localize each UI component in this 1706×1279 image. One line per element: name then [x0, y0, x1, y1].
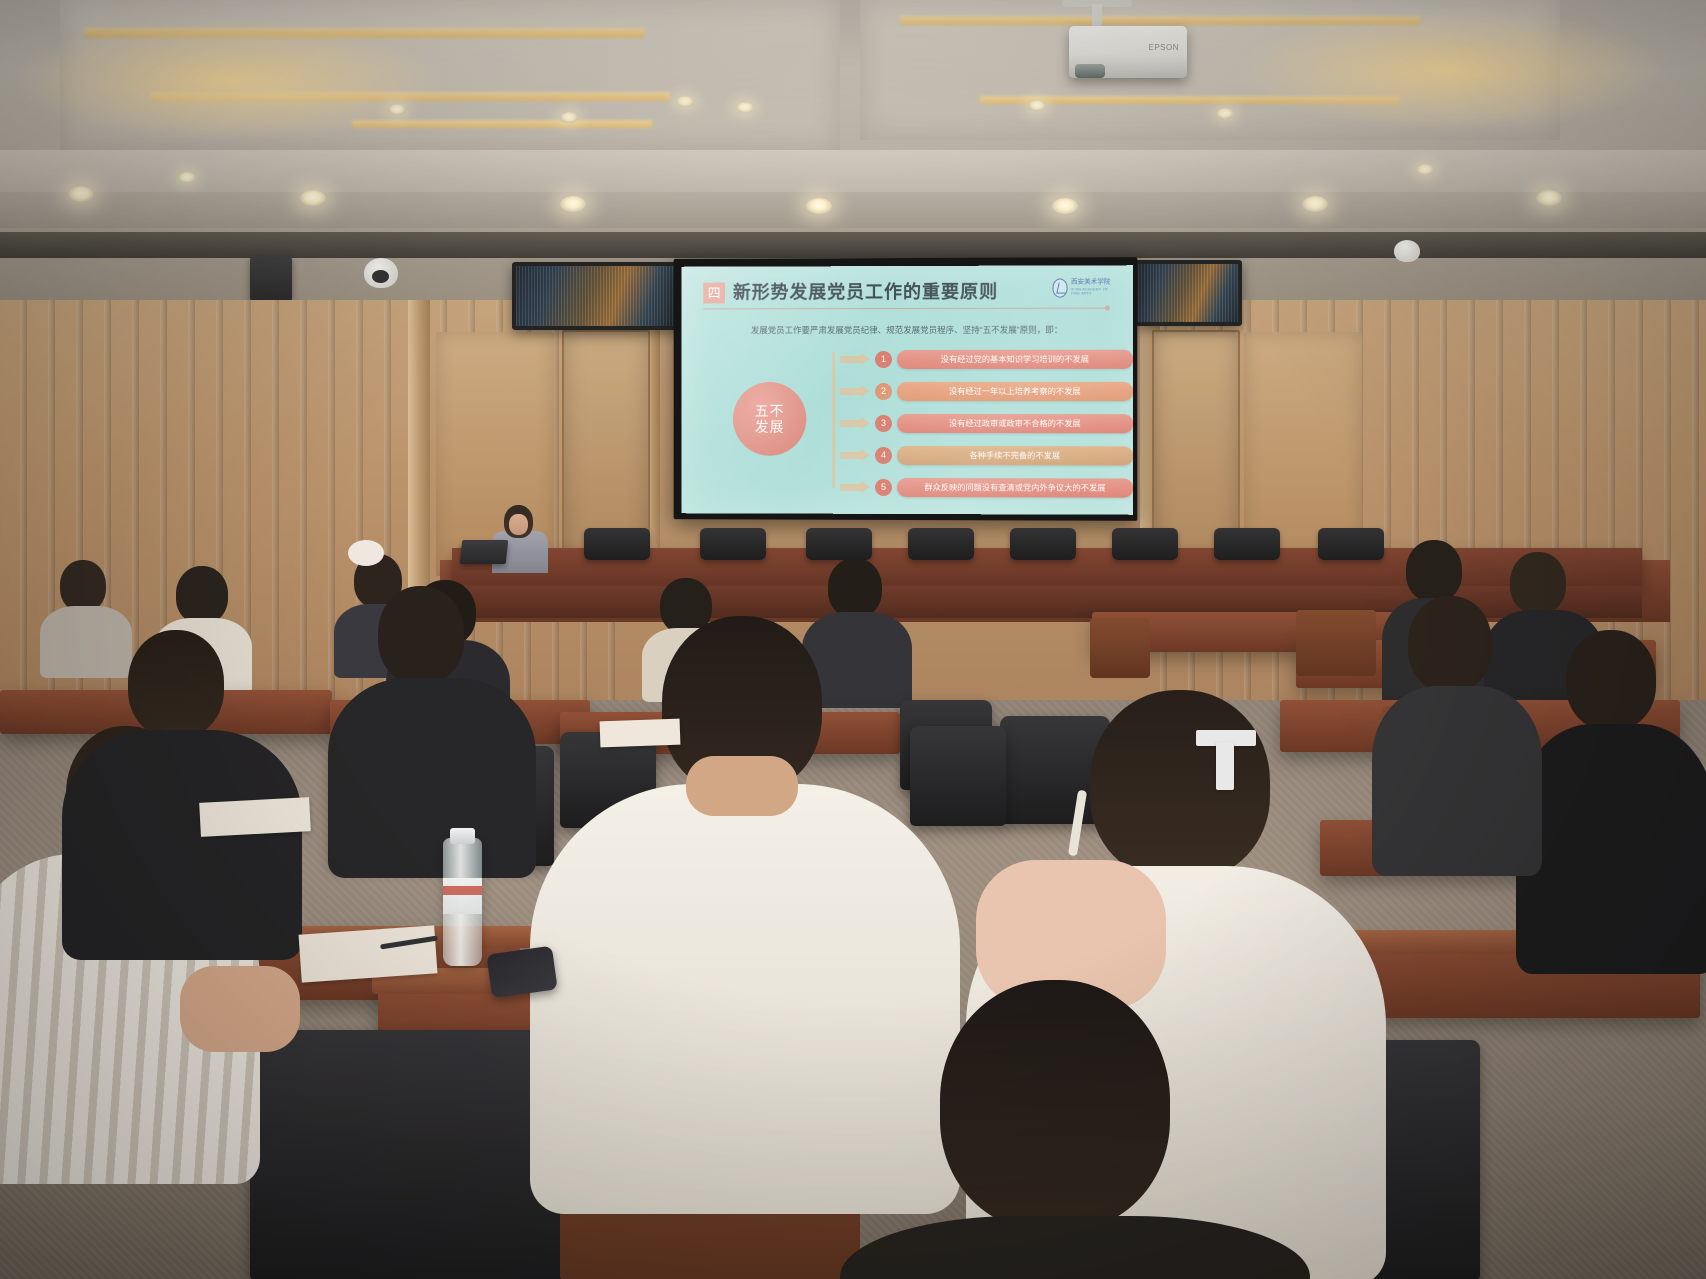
smartphone-on-desk[interactable]	[486, 946, 557, 999]
downlight-10	[736, 102, 754, 113]
wall-display-left	[512, 262, 682, 330]
diagram-rows: 1 没有经过党的基本知识学习培训的不发展 2 没有经过一年以上培养考察的不发展 …	[840, 346, 1133, 507]
university-logo-mark	[1052, 278, 1067, 297]
hair-clip-bar	[1216, 742, 1234, 790]
slide-section-number: 四	[703, 283, 725, 304]
paper-notes	[600, 719, 681, 748]
diagram-row: 3 没有经过政审或政审不合格的不发展	[840, 410, 1133, 436]
dome-camera-right-icon	[1394, 240, 1420, 262]
downlight-13	[676, 96, 694, 107]
row-text: 没有经过一年以上培养考察的不发展	[897, 381, 1133, 400]
row-index: 1	[875, 351, 892, 368]
ceiling-band	[0, 150, 1706, 192]
row-index: 3	[875, 414, 892, 431]
projector-icon: EPSON	[1069, 26, 1187, 78]
row-text: 群众反映的问题没有查清或党内外争议大的不发展	[897, 477, 1133, 497]
paper-notes	[298, 925, 437, 982]
podium-chair	[700, 528, 766, 560]
downlight-6	[1302, 196, 1328, 212]
downlight-12	[1216, 108, 1234, 119]
row-text: 各种手续不完备的不发展	[897, 445, 1133, 464]
wall-pilaster-left	[408, 300, 430, 620]
diagram-row: 2 没有经过一年以上培养考察的不发展	[840, 378, 1133, 404]
downlight-3	[560, 196, 586, 212]
projector-lens	[1075, 64, 1105, 78]
university-name-en: XI'AN ACADEMY OF FINE ARTS	[1071, 287, 1117, 296]
downlight-8	[388, 104, 406, 115]
row-index: 5	[875, 478, 892, 495]
downlight-14	[1416, 164, 1434, 175]
presenter-face	[509, 514, 528, 535]
podium-chair	[1214, 528, 1280, 560]
slide-title-rule	[703, 308, 1107, 310]
arrow-icon	[840, 356, 862, 363]
downlight-9	[560, 112, 578, 123]
chair-center-d	[910, 726, 1006, 826]
downlight-5	[1052, 198, 1078, 214]
downlight-11	[1028, 100, 1046, 111]
arrow-icon	[840, 483, 862, 490]
diagram-row: 4 各种手续不完备的不发展	[840, 442, 1133, 469]
wall-dark-trim	[0, 232, 1706, 258]
slide-lead-text: 发展党员工作要严肃发展党员纪律、规范发展党员程序、坚持“五不发展”原则，即：	[682, 324, 1134, 337]
arrow-icon	[840, 451, 862, 458]
chair-wood-1	[1090, 618, 1150, 678]
arrow-icon	[840, 419, 862, 426]
cove-glow-left	[20, 20, 440, 140]
ceiling-speaker-left	[250, 256, 292, 302]
water-bottle-label-stripe	[443, 886, 482, 895]
row-text: 没有经过政审或政审不合格的不发展	[897, 413, 1133, 432]
university-name-cn: 西安美术学院	[1071, 279, 1117, 287]
dome-camera-icon	[364, 258, 398, 288]
diagram-row: 5 群众反映的问题没有查清或党内外争议大的不发展	[840, 474, 1133, 501]
center-label-line2: 发展	[755, 419, 785, 435]
downlight-2	[300, 190, 326, 206]
slide-diagram: 五不 发展 1 没有经过党的基本知识学习培训的不发展 2 没有经过一年以上培养考…	[682, 346, 1134, 513]
projector-brand-label: EPSON	[1148, 43, 1179, 52]
chair-wood-2	[1296, 610, 1376, 676]
water-bottle-label	[443, 878, 482, 914]
diagram-row: 1 没有经过党的基本知识学习培训的不发展	[840, 346, 1133, 372]
downlight-15	[178, 172, 196, 183]
diagram-spine	[832, 352, 835, 488]
podium-chair	[908, 528, 974, 560]
cove-glow-right	[1240, 10, 1660, 130]
dome-camera-lens	[372, 270, 389, 283]
presenter-laptop	[460, 540, 509, 564]
paper-notes	[199, 797, 311, 837]
podium-chair	[1112, 528, 1178, 560]
podium-chair	[584, 528, 650, 560]
diagram-center-circle: 五不 发展	[733, 382, 806, 456]
university-logo-text: 西安美术学院 XI'AN ACADEMY OF FINE ARTS	[1071, 279, 1117, 296]
slide-title: 新形势发展党员工作的重要原则	[733, 278, 998, 305]
arrow-icon	[840, 388, 862, 395]
row-index: 2	[875, 383, 892, 400]
downlight-4	[806, 198, 832, 214]
projector-mount-arm	[1092, 4, 1102, 28]
podium-chair	[806, 528, 872, 560]
podium-chair	[1010, 528, 1076, 560]
wall-display-right	[1134, 260, 1242, 326]
downlight-1	[68, 186, 94, 202]
lecture-hall-photo: EPSON	[0, 0, 1706, 1279]
podium-chair	[1318, 528, 1384, 560]
center-label-line1: 五不	[755, 403, 785, 419]
water-bottle-cap	[450, 828, 475, 844]
university-logo: 西安美术学院 XI'AN ACADEMY OF FINE ARTS	[1052, 275, 1117, 299]
presentation-slide: 四 新形势发展党员工作的重要原则 西安美术学院 XI'AN ACADEMY OF…	[682, 265, 1134, 515]
row-index: 4	[875, 446, 892, 463]
row-text: 没有经过党的基本知识学习培训的不发展	[897, 349, 1133, 368]
downlight-7	[1536, 190, 1562, 206]
